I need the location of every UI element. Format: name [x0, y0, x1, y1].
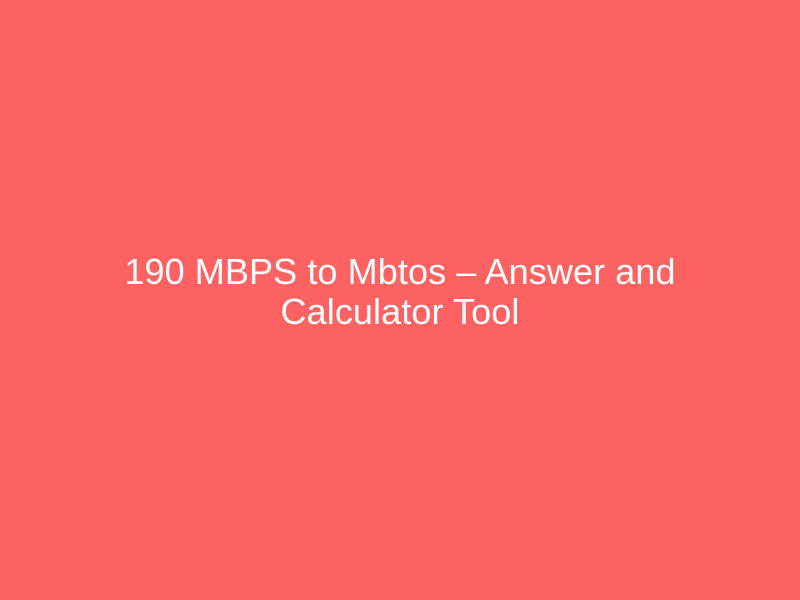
hero-banner: 190 MBPS to Mbtos – Answer and Calculato…	[0, 0, 800, 600]
page-title: 190 MBPS to Mbtos – Answer and Calculato…	[70, 252, 730, 332]
hero-heading-wrap: 190 MBPS to Mbtos – Answer and Calculato…	[50, 252, 750, 332]
